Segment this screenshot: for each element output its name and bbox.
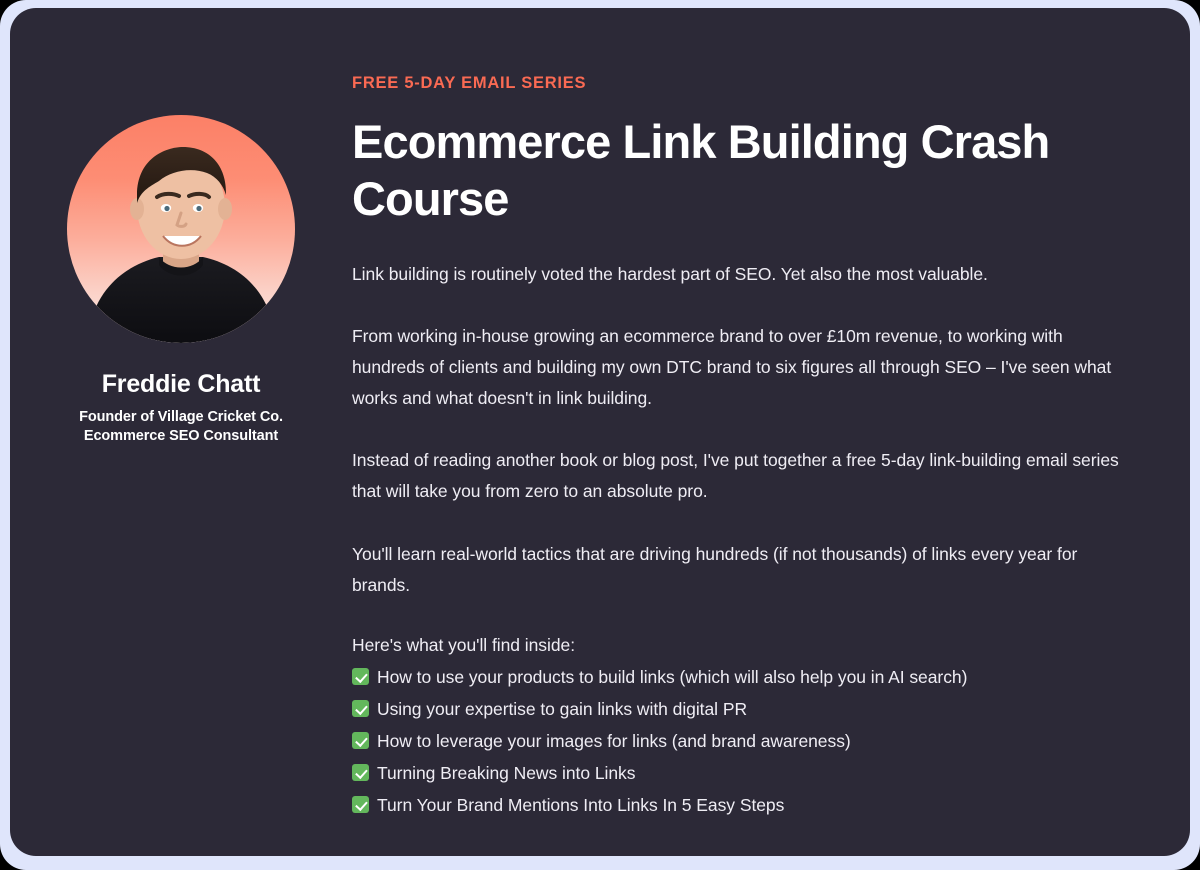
content-column: FREE 5-DAY EMAIL SERIES Ecommerce Link B… xyxy=(352,8,1164,821)
check-icon xyxy=(352,668,369,685)
checklist-intro: Here's what you'll find inside: xyxy=(352,630,1129,661)
check-icon xyxy=(352,764,369,781)
check-icon xyxy=(352,796,369,813)
author-role-line-2: Ecommerce SEO Consultant xyxy=(79,427,283,446)
page-title: Ecommerce Link Building Crash Course xyxy=(352,114,1129,228)
list-item-label: How to use your products to build links … xyxy=(377,661,967,693)
body-paragraph: Instead of reading another book or blog … xyxy=(352,445,1129,507)
list-item-label: Using your expertise to gain links with … xyxy=(377,693,747,725)
avatar xyxy=(67,115,295,343)
landing-card: Freddie Chatt Founder of Village Cricket… xyxy=(10,8,1190,856)
body-paragraph: You'll learn real-world tactics that are… xyxy=(352,539,1129,601)
eyebrow-label: FREE 5-DAY EMAIL SERIES xyxy=(352,74,1129,93)
checklist-section: Here's what you'll find inside: How to u… xyxy=(352,630,1129,821)
body-paragraph: From working in-house growing an ecommer… xyxy=(352,321,1129,414)
list-item: How to use your products to build links … xyxy=(352,661,1129,693)
author-role: Founder of Village Cricket Co. Ecommerce… xyxy=(79,408,283,446)
check-icon xyxy=(352,700,369,717)
author-column: Freddie Chatt Founder of Village Cricket… xyxy=(10,8,352,446)
author-name: Freddie Chatt xyxy=(102,371,261,399)
card-inner: Freddie Chatt Founder of Village Cricket… xyxy=(10,8,1190,856)
body-paragraph: Link building is routinely voted the har… xyxy=(352,259,1129,290)
list-item-label: Turn Your Brand Mentions Into Links In 5… xyxy=(377,789,784,821)
list-item: How to leverage your images for links (a… xyxy=(352,725,1129,757)
list-item-label: How to leverage your images for links (a… xyxy=(377,725,851,757)
list-item: Turning Breaking News into Links xyxy=(352,757,1129,789)
author-role-line-1: Founder of Village Cricket Co. xyxy=(79,408,283,427)
list-item: Turn Your Brand Mentions Into Links In 5… xyxy=(352,789,1129,821)
list-item: Using your expertise to gain links with … xyxy=(352,693,1129,725)
check-icon xyxy=(352,732,369,749)
avatar-portrait-illustration xyxy=(67,115,295,343)
list-item-label: Turning Breaking News into Links xyxy=(377,757,635,789)
